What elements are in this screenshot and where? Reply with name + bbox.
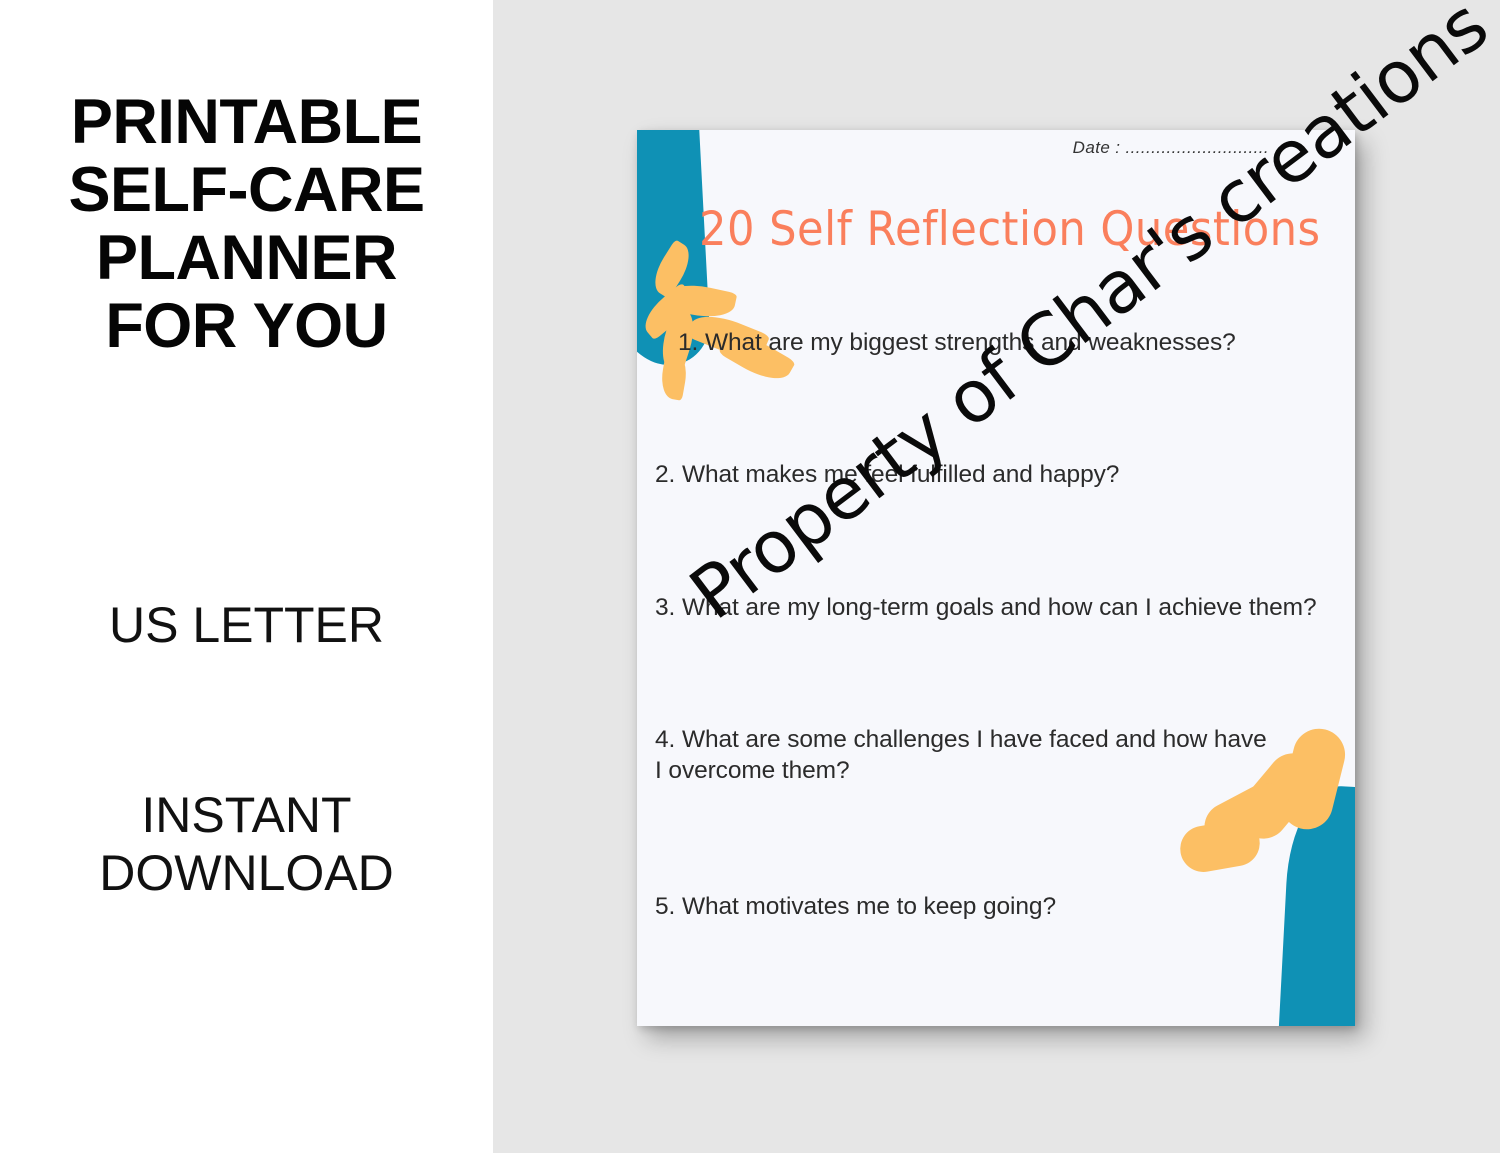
list-item: 4. What are some challenges I have faced… (655, 725, 1279, 787)
promo-format-label: US LETTER (0, 598, 493, 653)
list-item: 5. What motivates me to keep going? (655, 892, 1295, 923)
promo-heading-line-2: SELF-CARE (0, 156, 493, 224)
promo-heading-line-3: PLANNER (0, 224, 493, 292)
list-item: 1. What are my biggest strengths and wea… (678, 328, 1318, 359)
promo-delivery-line-1: INSTANT (0, 786, 493, 844)
list-item: 2. What makes me feel fulfilled and happ… (655, 460, 1295, 491)
printable-page-preview: Date : ............................ 20 S… (637, 130, 1355, 1026)
promo-panel: PRINTABLE SELF-CARE PLANNER FOR YOU US L… (0, 0, 493, 1153)
page-title: PRINTABLE SELF-CARE PLANNER FOR YOU (0, 88, 493, 360)
promo-heading-line-1: PRINTABLE (0, 88, 493, 156)
promo-delivery-label: INSTANT DOWNLOAD (0, 786, 493, 902)
list-item: 3. What are my long-term goals and how c… (655, 593, 1335, 624)
date-field[interactable]: Date : ............................ (1073, 138, 1269, 158)
petal-icon (1177, 816, 1264, 875)
promo-heading-line-4: FOR YOU (0, 292, 493, 360)
promo-delivery-line-2: DOWNLOAD (0, 844, 493, 902)
worksheet-title: 20 Self Reflection Questions (699, 202, 1321, 257)
